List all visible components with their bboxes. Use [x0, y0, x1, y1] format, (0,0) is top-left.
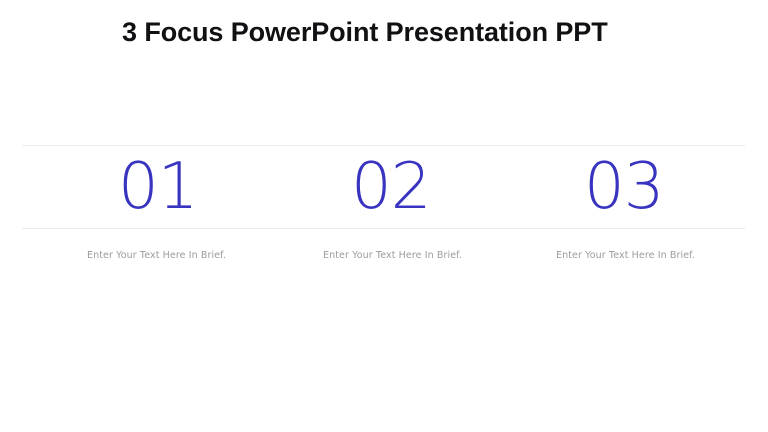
focus-caption-02[interactable]: Enter Your Text Here In Brief.: [323, 248, 463, 265]
focus-number-01[interactable]: 01: [118, 145, 197, 228]
focus-number-03[interactable]: 03: [584, 145, 663, 228]
page-title: 3 Focus PowerPoint Presentation PPT: [122, 14, 682, 50]
focus-caption-03[interactable]: Enter Your Text Here In Brief.: [556, 248, 696, 265]
focus-number-02[interactable]: 02: [351, 145, 430, 228]
focus-caption-01[interactable]: Enter Your Text Here In Brief.: [87, 248, 227, 265]
divider-bottom: [22, 228, 745, 229]
slide-canvas: 3 Focus PowerPoint Presentation PPT 01 0…: [0, 0, 768, 432]
numbers-band: 01 02 03: [0, 145, 768, 228]
